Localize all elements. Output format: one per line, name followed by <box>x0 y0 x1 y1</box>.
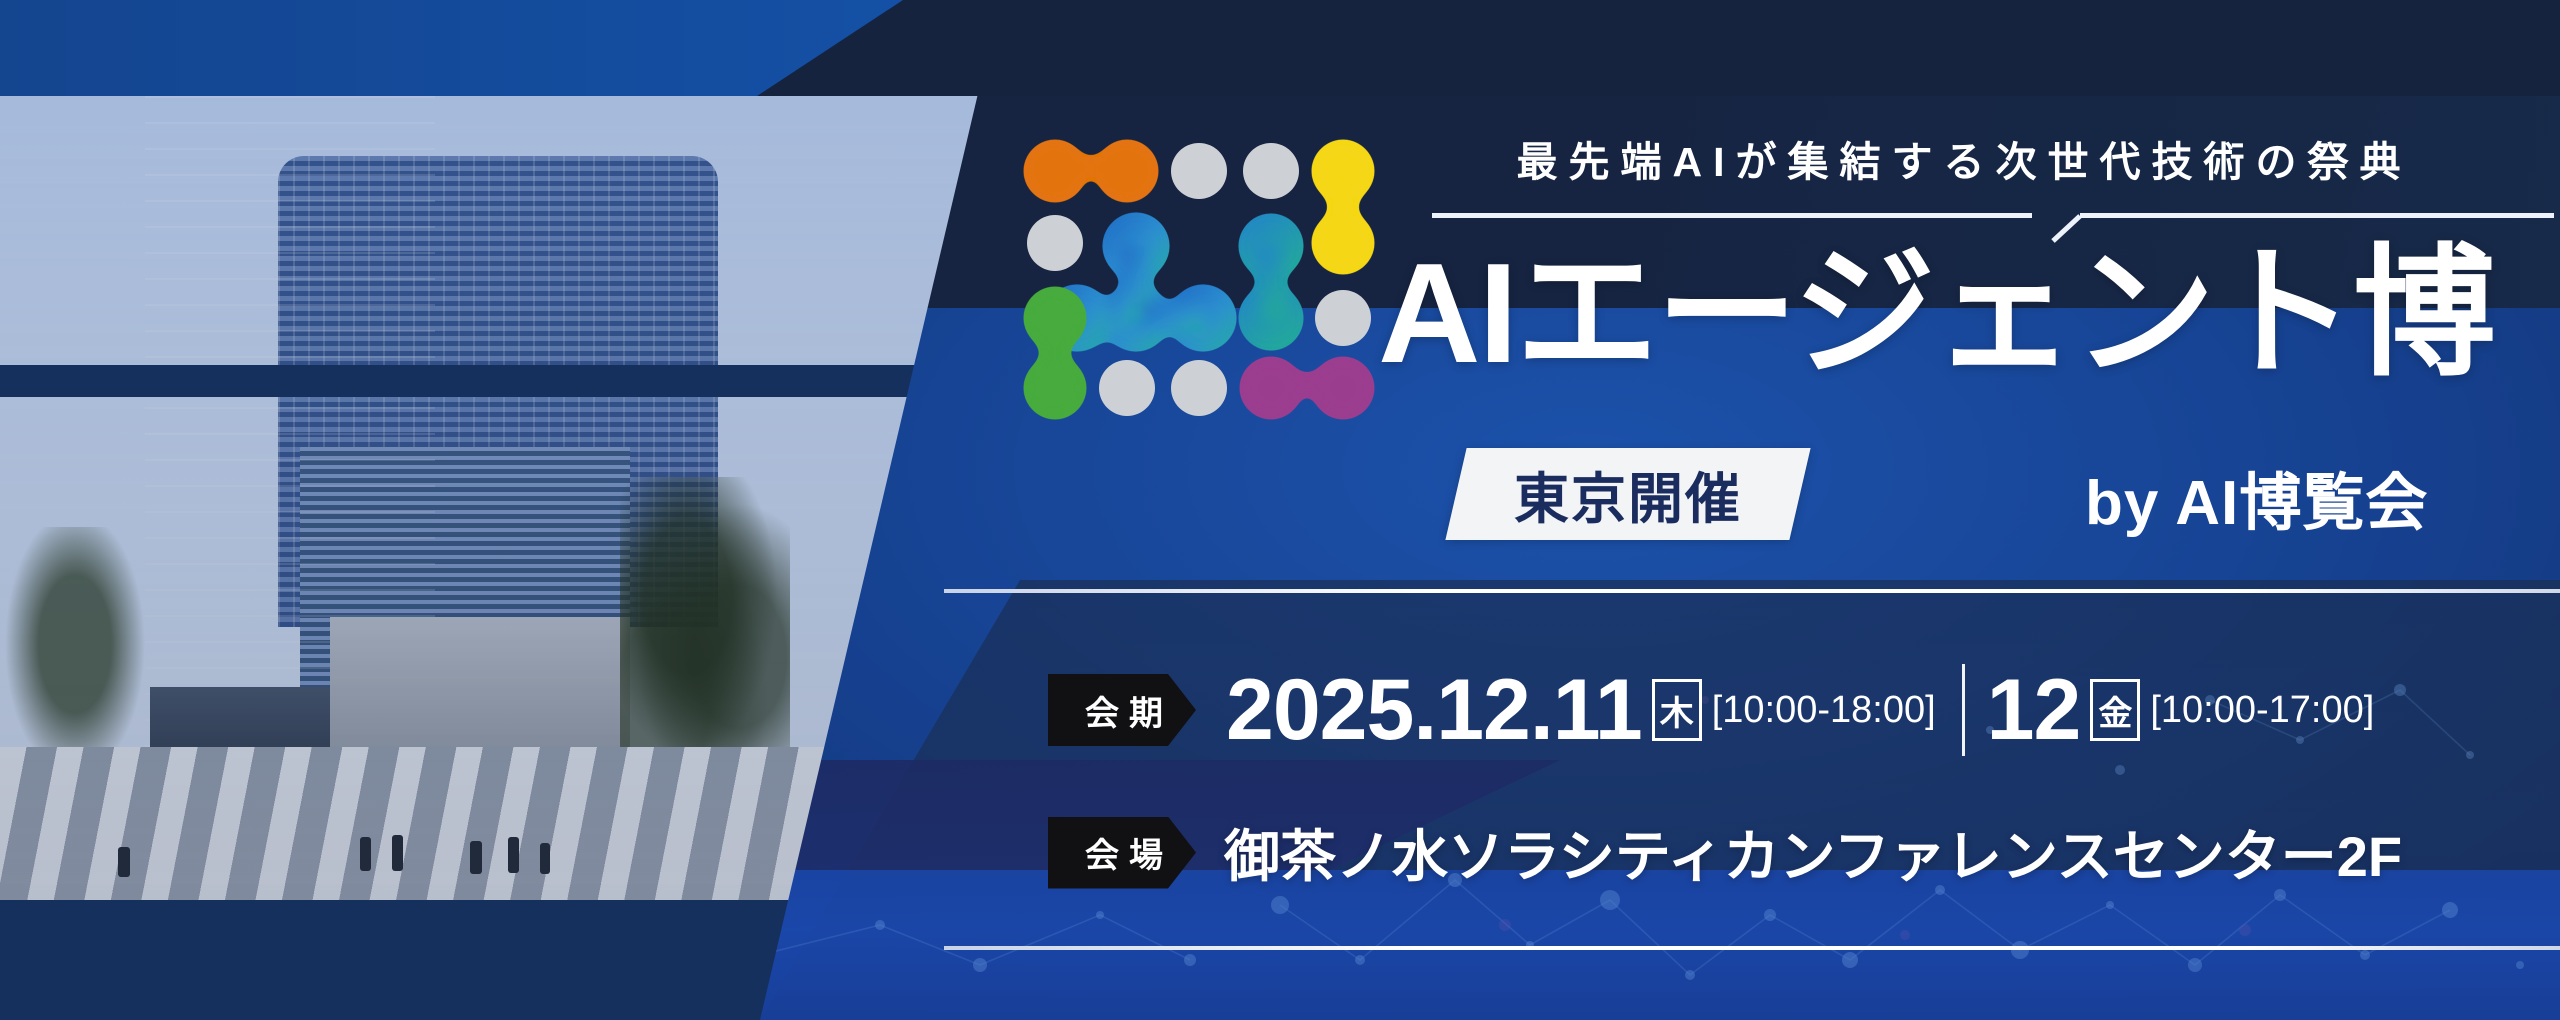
logo-dot-grey <box>1171 143 1227 199</box>
logo-yellow-pair <box>1312 140 1374 274</box>
schedule-label: 会期 <box>1075 686 1173 735</box>
badge-label: 東京開催 <box>1514 454 1742 534</box>
photo-gap-1 <box>0 365 1000 397</box>
schedule-weekday-day2: 金 <box>2090 679 2140 741</box>
schedule-weekday-day1: 木 <box>1652 679 1702 741</box>
logo-dot-grey <box>1315 290 1371 346</box>
venue-label: 会場 <box>1075 828 1173 877</box>
status-badge: 東京開催 <box>1445 448 1810 540</box>
divider-middle <box>944 589 2560 593</box>
photo-slice-top <box>0 96 1000 365</box>
venue-name: 御茶ノ水ソラシティカンファレンスセンター2F <box>1224 812 2402 893</box>
logo-dot-grey <box>1243 143 1299 199</box>
logo-dot-grey <box>1027 215 1083 271</box>
tagline: 最先端AIが集結する次世代技術の祭典 <box>1434 128 2494 188</box>
schedule-label-pennant: 会期 <box>1048 674 1196 746</box>
venue-row: 会場 御茶ノ水ソラシティカンファレンスセンター2F <box>1048 812 2402 893</box>
event-banner: 最先端AIが集結する次世代技術の祭典 AIエージェント博 東京開催 by AI博… <box>0 0 2560 1020</box>
page-title: AIエージェント博 <box>1378 243 2493 385</box>
logo-teal-pair <box>1239 214 1303 350</box>
schedule-date-primary: 2025.12.11 <box>1226 667 1642 753</box>
schedule-separator <box>1962 664 1965 756</box>
divider-bottom <box>944 946 2560 950</box>
schedule-time-day2: [10:00-17:00] <box>2150 689 2374 732</box>
ai-hakurankai-logo <box>1015 133 1375 423</box>
schedule-time-day1: [10:00-18:00] <box>1712 689 1936 732</box>
logo-purple-pair <box>1240 357 1374 419</box>
venue-label-pennant: 会場 <box>1048 817 1196 889</box>
schedule-date-secondary: 12 <box>1987 667 2081 753</box>
logo-dot-grey <box>1171 360 1227 416</box>
logo-green-pair <box>1024 287 1086 419</box>
schedule-row: 会期 2025.12.11 木 [10:00-18:00] 12 金 [10:0… <box>1048 664 2374 756</box>
logo-orange-pair <box>1024 140 1158 202</box>
logo-dot-grey <box>1099 360 1155 416</box>
byline: by AI博覧会 <box>2085 452 2428 542</box>
